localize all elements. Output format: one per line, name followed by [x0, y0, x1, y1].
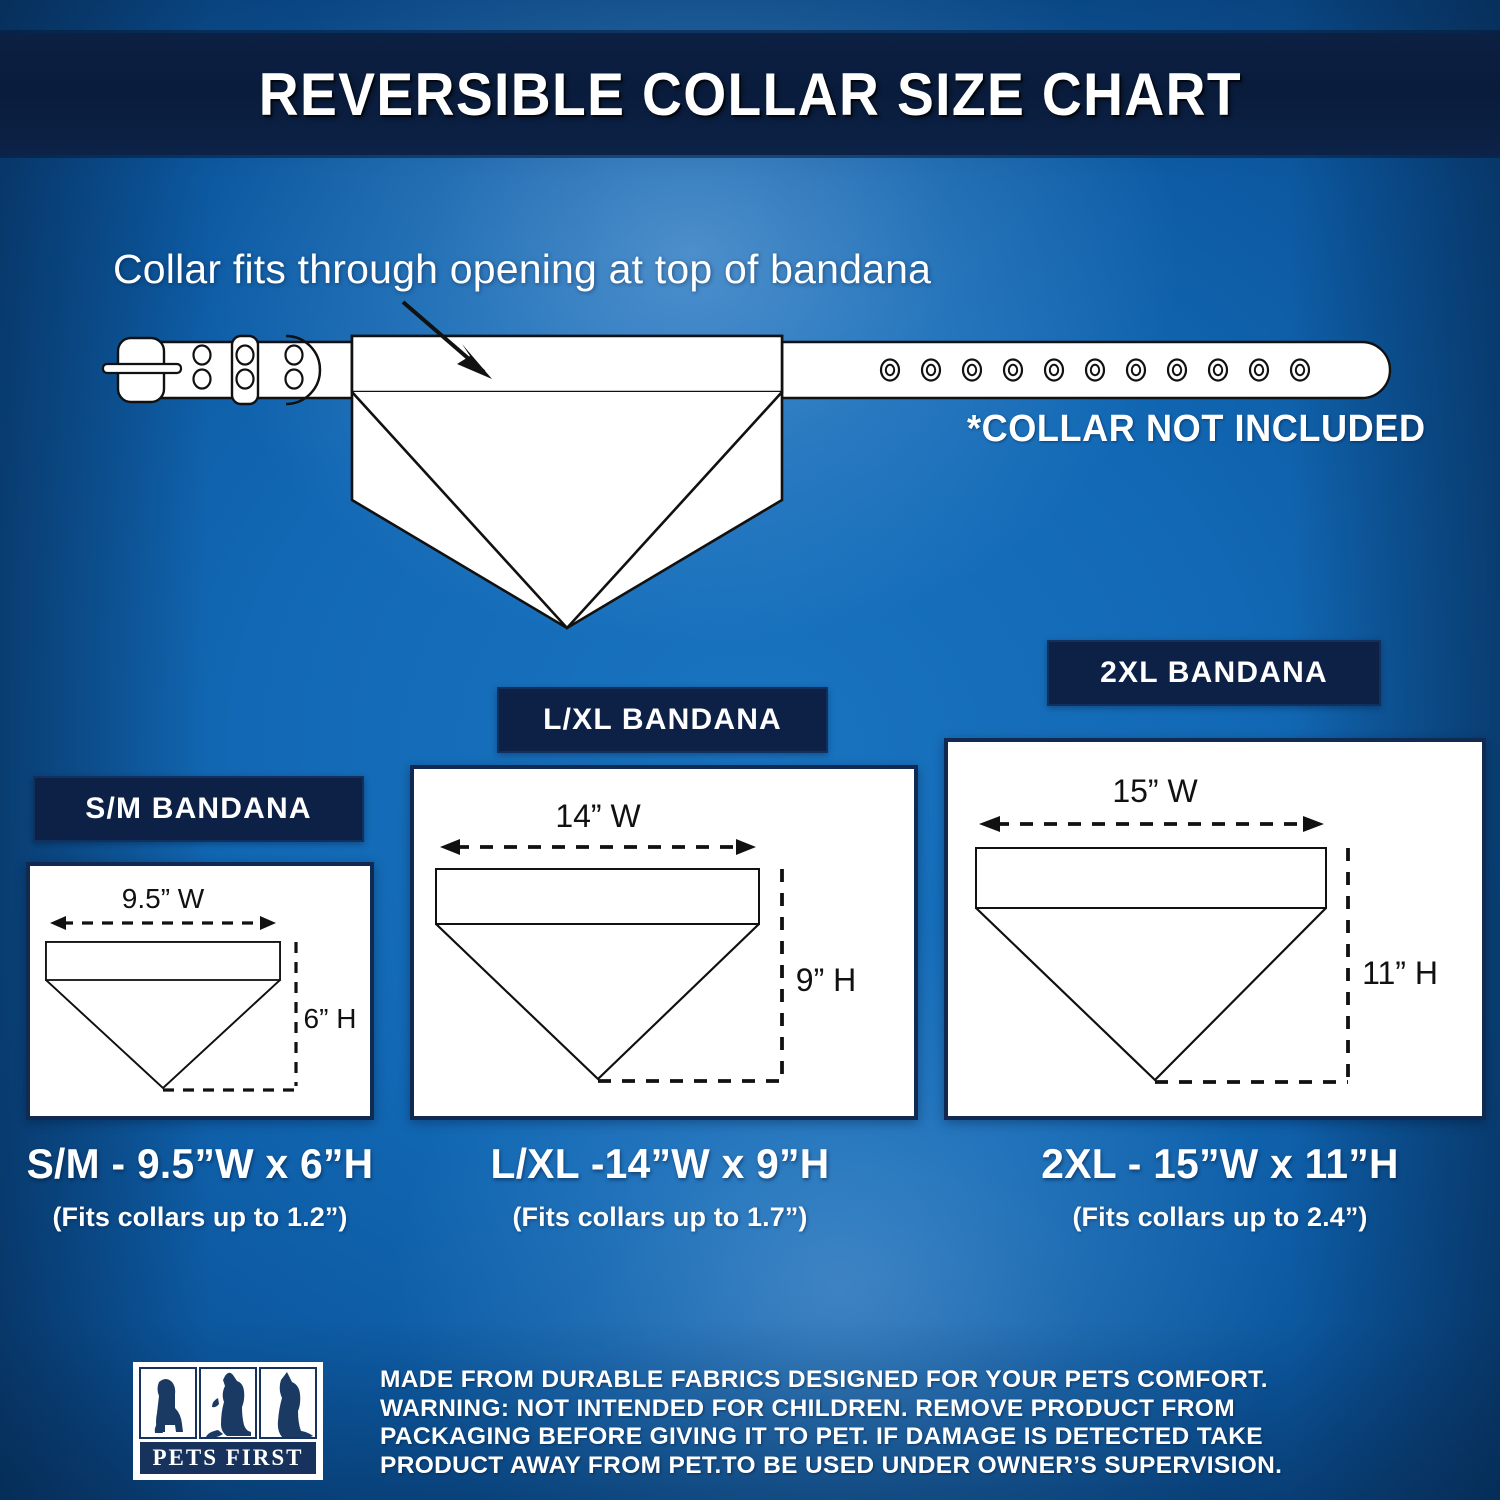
- header-band: REVERSIBLE COLLAR SIZE CHART: [0, 33, 1500, 155]
- panel-sm-height-label: 6” H: [304, 1003, 357, 1034]
- panel-2xl-badge: 2XL BANDANA: [1047, 640, 1381, 706]
- panel-sm-badge-label: S/M BANDANA: [85, 792, 312, 826]
- panel-sm-width-label: 9.5” W: [122, 883, 205, 914]
- disclaimer-text: MADE FROM DURABLE FABRICS DESIGNED FOR Y…: [380, 1366, 1390, 1480]
- panel-lxl-diagram: 14” W 9” H: [414, 769, 914, 1116]
- panel-sm-caption-title: S/M - 9.5”W x 6”H: [6, 1140, 394, 1188]
- panel-lxl-badge: L/XL BANDANA: [497, 687, 828, 753]
- pets-first-logo-text: PETS FIRST: [152, 1445, 303, 1470]
- panel-sm-caption: S/M - 9.5”W x 6”H (Fits collars up to 1.…: [0, 1140, 400, 1233]
- panel-sm-diagram: 9.5” W 6” H: [30, 866, 370, 1116]
- panel-2xl-height-label: 11” H: [1362, 955, 1438, 991]
- pets-first-logo: PETS FIRST: [133, 1362, 323, 1480]
- panel-lxl-card: 14” W 9” H: [410, 765, 918, 1120]
- panel-sm-caption-sub: (Fits collars up to 1.2”): [0, 1202, 400, 1233]
- panel-sm-card: 9.5” W 6” H: [26, 862, 374, 1120]
- panel-sm-badge: S/M BANDANA: [33, 776, 364, 842]
- panel-2xl-caption: 2XL - 15”W x 11”H (Fits collars up to 2.…: [1010, 1140, 1430, 1233]
- panel-2xl-diagram: 15” W 11” H: [948, 742, 1482, 1116]
- panel-2xl-width-label: 15” W: [1112, 773, 1198, 809]
- panel-2xl-caption-title: 2XL - 15”W x 11”H: [1016, 1140, 1423, 1188]
- disclaimer-line-3: PACKAGING BEFORE GIVING IT TO PET. IF DA…: [380, 1423, 1390, 1452]
- panel-lxl-height-label: 9” H: [796, 962, 856, 998]
- size-chart-page: REVERSIBLE COLLAR SIZE CHART Collar fits…: [0, 0, 1500, 1500]
- disclaimer-line-1: MADE FROM DURABLE FABRICS DESIGNED FOR Y…: [380, 1366, 1390, 1395]
- panel-2xl-caption-sub: (Fits collars up to 2.4”): [1010, 1202, 1430, 1233]
- panel-2xl-badge-label: 2XL BANDANA: [1100, 656, 1328, 690]
- panel-lxl-caption-title: L/XL -14”W x 9”H: [466, 1140, 854, 1188]
- disclaimer-line-4: PRODUCT AWAY FROM PET.TO BE USED UNDER O…: [380, 1452, 1390, 1481]
- panel-lxl-caption: L/XL -14”W x 9”H (Fits collars up to 1.7…: [460, 1140, 860, 1233]
- disclaimer-line-2: WARNING: NOT INTENDED FOR CHILDREN. REMO…: [380, 1395, 1390, 1424]
- page-title: REVERSIBLE COLLAR SIZE CHART: [258, 60, 1241, 129]
- panel-lxl-caption-sub: (Fits collars up to 1.7”): [460, 1202, 860, 1233]
- collar-bandana-illustration: [0, 280, 1500, 660]
- panel-lxl-badge-label: L/XL BANDANA: [543, 703, 782, 737]
- panel-2xl-card: 15” W 11” H: [944, 738, 1486, 1120]
- collar-strap-right: [782, 342, 1390, 398]
- panel-lxl-width-label: 14” W: [555, 798, 641, 834]
- bandana-shape: [352, 336, 782, 628]
